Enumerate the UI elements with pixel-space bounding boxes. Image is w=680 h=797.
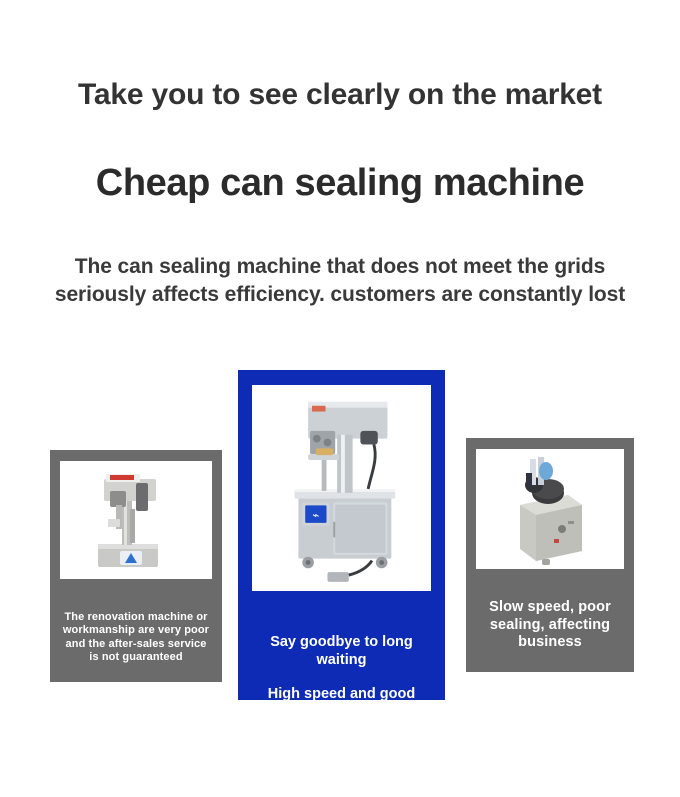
panel-left-poor-renovation: The renovation machine or workmanship ar…: [50, 450, 222, 682]
panel-right-slow-machine: Slow speed, poor sealing, affecting busi…: [466, 438, 634, 672]
slow-sealing-machine-icon: [476, 449, 624, 569]
old-sealing-machine-icon: [60, 461, 212, 579]
new-sealing-machine-icon: ⌁: [252, 385, 431, 591]
center-machine-photo: ⌁: [252, 385, 431, 591]
center-panel-caption-primary: Say goodbye to long waiting: [263, 633, 421, 669]
page-subtitle-line-2: seriously affects efficiency. customers …: [25, 281, 655, 309]
left-machine-photo: [60, 461, 212, 579]
page-subtitle-line-1: The can sealing machine that does not me…: [25, 253, 655, 281]
comparison-panels: The renovation machine or workmanship ar…: [0, 360, 680, 710]
right-panel-caption: Slow speed, poor sealing, affecting busi…: [476, 599, 624, 652]
headings-block: Take you to see clearly on the market Ch…: [0, 0, 680, 309]
center-panel-caption-secondary: High speed and good sealing: [252, 685, 431, 721]
page-title-secondary: Cheap can sealing machine: [0, 163, 680, 205]
panel-center-recommended-machine: ⌁: [238, 370, 445, 700]
right-machine-photo: [476, 449, 624, 569]
page-subtitle: The can sealing machine that does not me…: [25, 253, 655, 310]
page-title-primary: Take you to see clearly on the market: [0, 78, 680, 111]
svg-text:⌁: ⌁: [312, 508, 319, 522]
left-panel-caption: The renovation machine or workmanship ar…: [60, 611, 212, 665]
